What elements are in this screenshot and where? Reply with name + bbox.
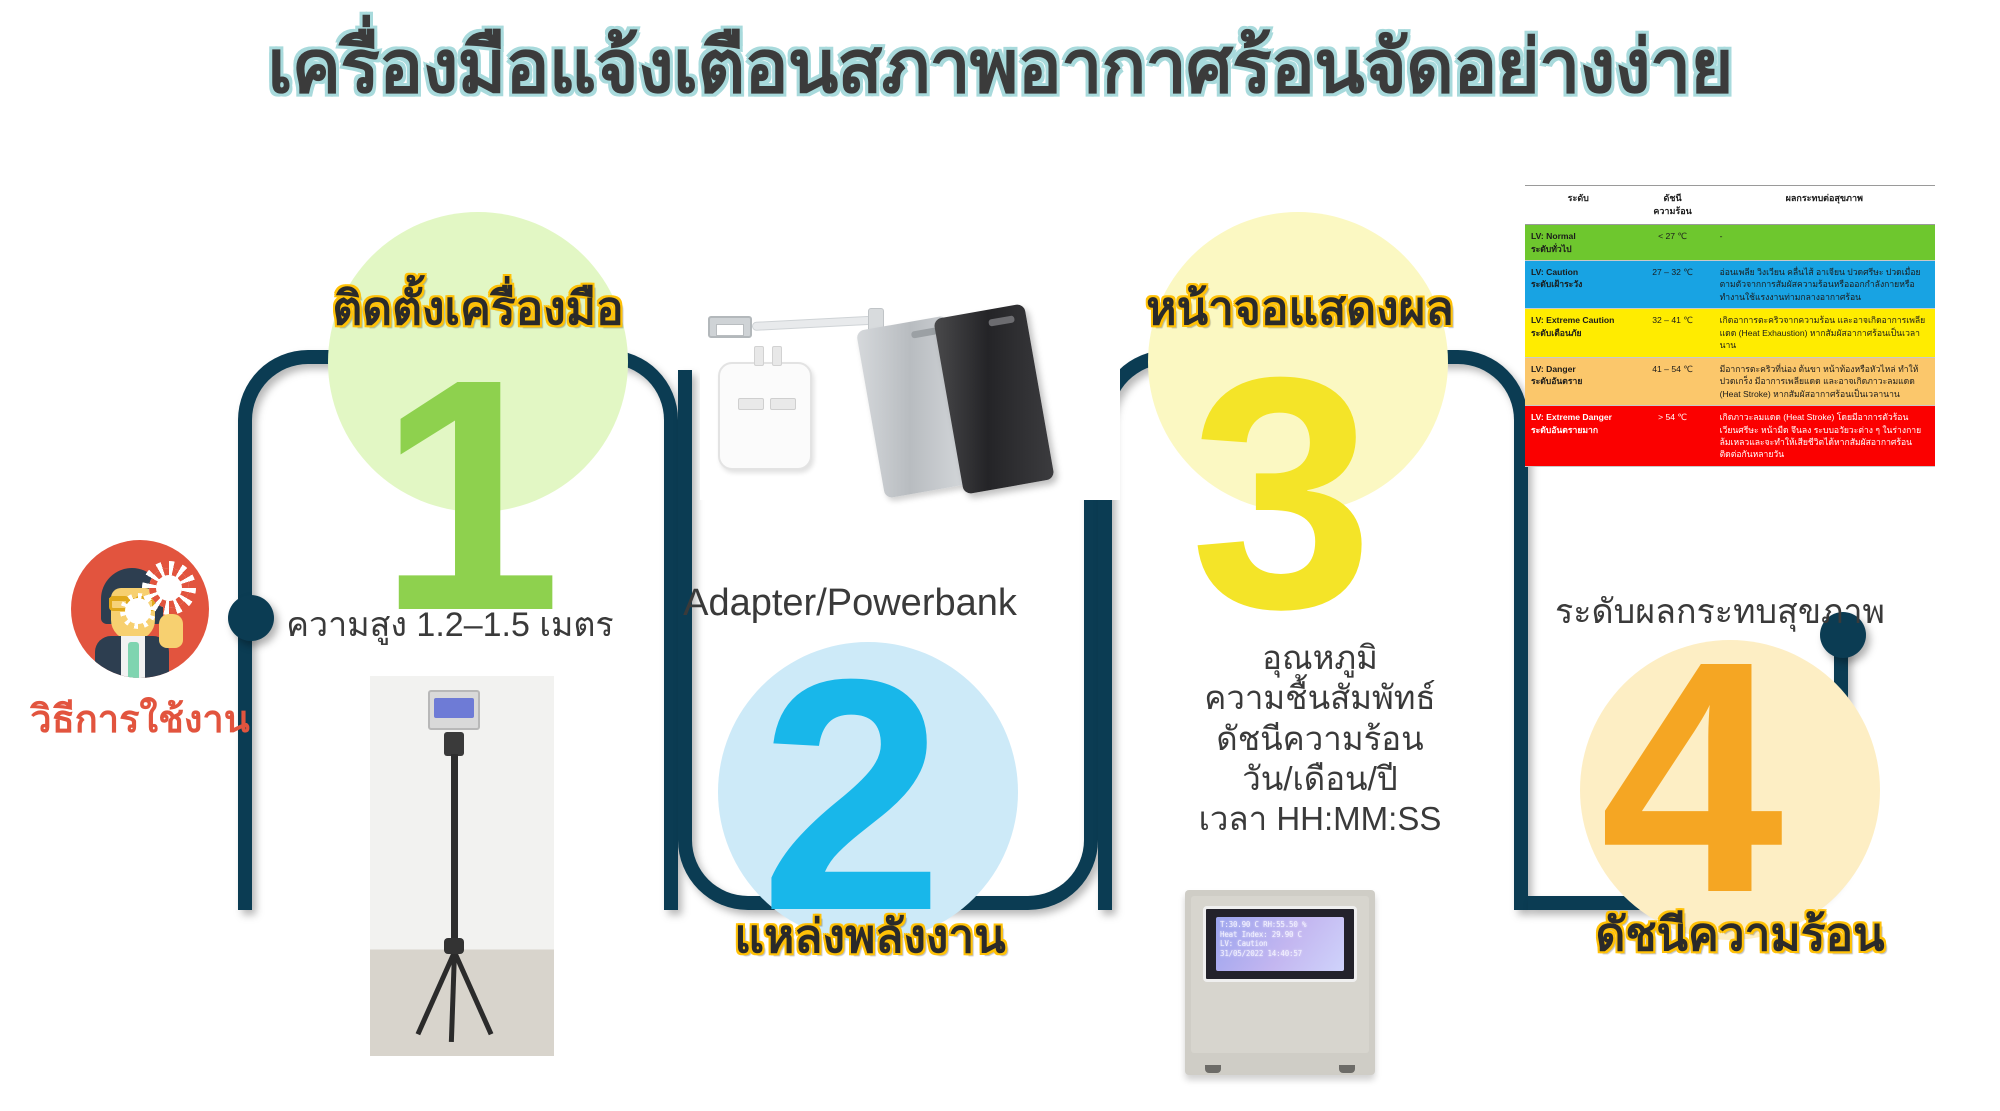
cell-index: < 27 ℃ (1632, 225, 1714, 261)
table-row: LV: Caution ระดับเฝ้าระวัง27 – 32 ℃อ่อนเ… (1525, 261, 1935, 309)
cell-level: LV: Normal ระดับทั่วไป (1525, 225, 1632, 261)
cell-level: LV: Extreme Caution ระดับเตือนภัย (1525, 309, 1632, 357)
cell-level: LV: Extreme Danger ระดับอันตรายมาก (1525, 406, 1632, 467)
step-1-label: ติดตั้งเครื่องมือ (268, 272, 688, 345)
cell-effect: มีอาการตะคริวที่น่อง ต้นขา หน้าท้องหรือห… (1714, 357, 1935, 405)
infographic-canvas: เครื่องมือแจ้งเตือนสภาพอากาศร้อนจัดอย่าง… (0, 0, 2000, 1111)
person-with-gears-icon (71, 540, 209, 678)
step-3-label: หน้าจอแสดงผล (1100, 272, 1500, 345)
step-3-number: 3 (1190, 328, 1374, 658)
lcd-line-2: Heat Index: 29.90 C (1220, 930, 1340, 940)
table-row: LV: Danger ระดับอันตราย41 – 54 ℃มีอาการต… (1525, 357, 1935, 405)
step-4-number: 4 (1600, 612, 1784, 942)
step-3-caption: อุณหภูมิ ความชื้นสัมพัทธ์ ดัชนีความร้อน … (1130, 638, 1510, 839)
usb-adapter-and-powerbank-photo (700, 300, 1120, 500)
device-with-lcd-photo: T:30.90 C RH:55.50 % Heat Index: 29.90 C… (1185, 890, 1375, 1075)
table-row: LV: Extreme Caution ระดับเตือนภัย32 – 41… (1525, 309, 1935, 357)
cell-index: > 54 ℃ (1632, 406, 1714, 467)
step-4-caption: ระดับผลกระทบสุขภาพ (1490, 592, 1950, 633)
header-index: ดัชนี ความร้อน (1632, 186, 1714, 225)
how-to-use-badge: วิธีการใช้งาน (30, 540, 250, 749)
step-2-label: แหล่งพลังงาน (690, 900, 1050, 973)
cell-effect: - (1714, 225, 1935, 261)
cell-effect: เกิดภาวะลมแดด (Heat Stroke) โดยมีอาการตั… (1714, 406, 1935, 467)
cell-index: 32 – 41 ℃ (1632, 309, 1714, 357)
cell-index: 27 – 32 ℃ (1632, 261, 1714, 309)
cell-effect: เกิดอาการตะคริวจากความร้อน และอาจเกิดอาก… (1714, 309, 1935, 357)
page-title: เครื่องมือแจ้งเตือนสภาพอากาศร้อนจัดอย่าง… (0, 28, 2000, 106)
lcd-line-4: 31/05/2022 14:40:57 (1220, 949, 1340, 959)
step-4-label: ดัชนีความร้อน (1540, 898, 1940, 971)
table-row: LV: Normal ระดับทั่วไป< 27 ℃- (1525, 225, 1935, 261)
header-effect: ผลกระทบต่อสุขภาพ (1714, 186, 1935, 225)
lcd-line-1: T:30.90 C RH:55.50 % (1220, 920, 1340, 930)
lcd-screen: T:30.90 C RH:55.50 % Heat Index: 29.90 C… (1216, 917, 1344, 971)
step-1-caption: ความสูง 1.2–1.5 เมตร (240, 605, 660, 646)
header-level: ระดับ (1525, 186, 1632, 225)
cell-index: 41 – 54 ℃ (1632, 357, 1714, 405)
cell-effect: อ่อนเพลีย วิงเวียน คลื่นไส้ อาเจียน ปวดศ… (1714, 261, 1935, 309)
table-header-row: ระดับ ดัชนี ความร้อน ผลกระทบต่อสุขภาพ (1525, 186, 1935, 225)
cell-level: LV: Danger ระดับอันตราย (1525, 357, 1632, 405)
tripod-with-device-photo (370, 676, 554, 1056)
cell-level: LV: Caution ระดับเฝ้าระวัง (1525, 261, 1632, 309)
lcd-line-3: LV: Caution (1220, 939, 1340, 949)
wall-adapter-icon (718, 362, 812, 470)
heat-index-table: ระดับ ดัชนี ความร้อน ผลกระทบต่อสุขภาพ LV… (1525, 185, 1935, 467)
usb-cable-icon (708, 302, 868, 362)
step-2-caption: Adapter/Powerbank (620, 580, 1080, 626)
table-row: LV: Extreme Danger ระดับอันตรายมาก> 54 ℃… (1525, 406, 1935, 467)
how-to-use-label: วิธีการใช้งาน (30, 688, 250, 749)
